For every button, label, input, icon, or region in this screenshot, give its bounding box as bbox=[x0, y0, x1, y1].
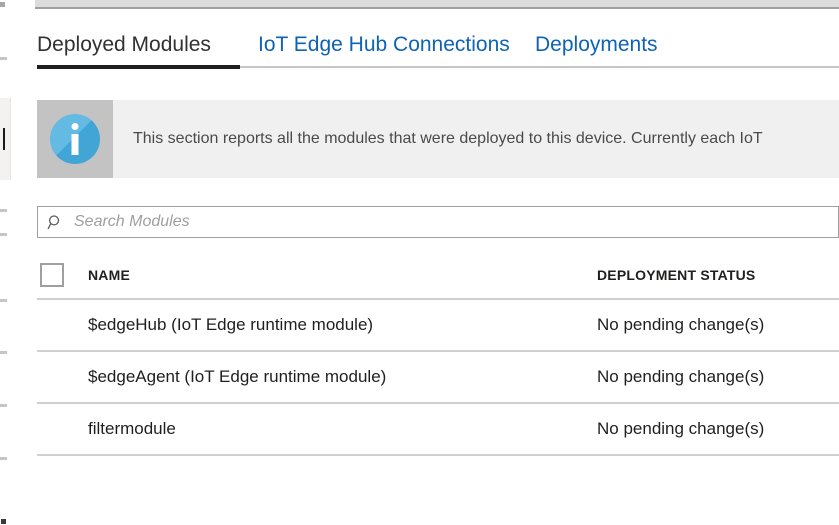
left-edge-fragment bbox=[0, 233, 7, 236]
table-row[interactable]: $edgeHub (IoT Edge runtime module) No pe… bbox=[37, 300, 839, 352]
info-icon bbox=[50, 114, 100, 164]
search-icon bbox=[47, 214, 64, 231]
tab-deployed-modules[interactable]: Deployed Modules bbox=[37, 28, 211, 62]
left-panel-cursor bbox=[3, 128, 5, 150]
tab-bar: Deployed Modules IoT Edge Hub Connection… bbox=[37, 28, 839, 72]
column-header-name[interactable]: NAME bbox=[88, 267, 597, 283]
bottom-edge-fragment bbox=[1, 519, 6, 524]
table-header-row: NAME DEPLOYMENT STATUS bbox=[37, 252, 839, 300]
select-all-checkbox[interactable] bbox=[40, 263, 64, 287]
tab-label: IoT Edge Hub Connections bbox=[258, 33, 510, 56]
left-edge-fragment bbox=[0, 404, 7, 407]
info-banner: This section reports all the modules tha… bbox=[37, 100, 839, 178]
main-content: Deployed Modules IoT Edge Hub Connection… bbox=[37, 0, 839, 525]
table-row[interactable]: $edgeAgent (IoT Edge runtime module) No … bbox=[37, 352, 839, 404]
tab-iot-edge-hub-connections[interactable]: IoT Edge Hub Connections bbox=[258, 28, 510, 62]
module-name: filtermodule bbox=[88, 419, 597, 439]
search-modules-box[interactable] bbox=[37, 206, 839, 238]
module-deployment-status: No pending change(s) bbox=[597, 367, 839, 387]
left-edge-fragment bbox=[0, 299, 7, 302]
tab-label: Deployments bbox=[535, 33, 658, 56]
table-row[interactable]: filtermodule No pending change(s) bbox=[37, 404, 839, 456]
module-deployment-status: No pending change(s) bbox=[597, 315, 839, 335]
left-edge-fragment bbox=[0, 57, 7, 60]
info-banner-text: This section reports all the modules tha… bbox=[113, 100, 839, 178]
left-edge-fragment bbox=[0, 351, 7, 354]
left-edge-fragment bbox=[0, 457, 7, 460]
module-name: $edgeHub (IoT Edge runtime module) bbox=[88, 315, 597, 335]
left-edge-fragment bbox=[0, 209, 7, 212]
left-edge-fragment bbox=[0, 2, 5, 7]
info-icon-stem bbox=[72, 134, 79, 155]
column-header-deployment-status[interactable]: DEPLOYMENT STATUS bbox=[597, 267, 839, 283]
info-icon-container bbox=[37, 100, 113, 178]
modules-table: NAME DEPLOYMENT STATUS $edgeHub (IoT Edg… bbox=[37, 252, 839, 456]
tab-deployments[interactable]: Deployments bbox=[535, 28, 658, 62]
select-all-cell bbox=[37, 263, 88, 287]
info-icon-dot bbox=[72, 123, 79, 130]
search-input[interactable] bbox=[72, 212, 829, 232]
tab-label: Deployed Modules bbox=[37, 33, 211, 56]
active-tab-indicator bbox=[37, 65, 240, 69]
module-name: $edgeAgent (IoT Edge runtime module) bbox=[88, 367, 597, 387]
left-panel-fragment bbox=[0, 98, 11, 180]
module-deployment-status: No pending change(s) bbox=[597, 419, 839, 439]
